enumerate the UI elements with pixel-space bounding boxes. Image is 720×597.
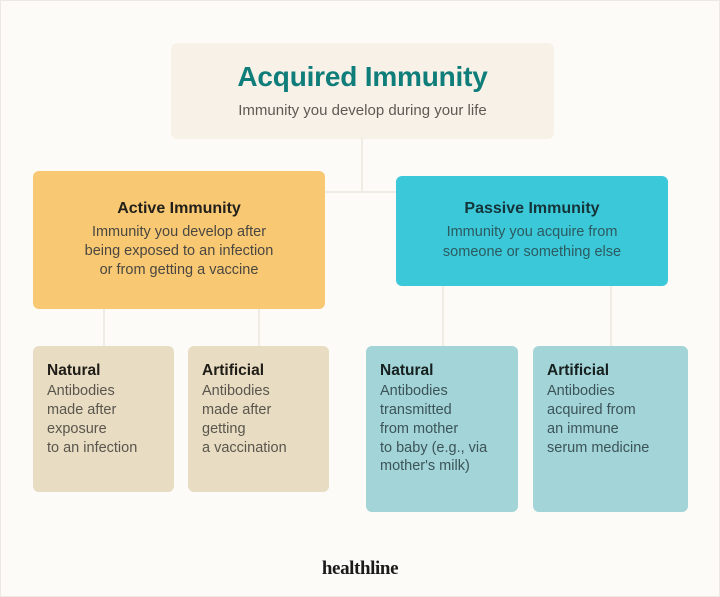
- passive-artificial-subtitle: Antibodies acquired from an immune serum…: [547, 382, 674, 457]
- active-immunity-title: Active Immunity: [117, 200, 241, 218]
- passive-immunity-subtitle: Immunity you acquire from someone or som…: [443, 223, 621, 262]
- active-artificial-subtitle: Antibodies made after getting a vaccinat…: [202, 382, 315, 457]
- active-natural-title: Natural: [47, 362, 160, 380]
- connector-active-to-natural: [103, 309, 105, 347]
- passive-natural-subtitle: Antibodies transmitted from mother to ba…: [380, 382, 504, 476]
- node-passive-natural: Natural Antibodies transmitted from moth…: [366, 346, 518, 512]
- connector-active-to-artificial: [258, 309, 260, 347]
- passive-artificial-title: Artificial: [547, 362, 674, 380]
- node-active-natural: Natural Antibodies made after exposure t…: [33, 346, 174, 492]
- node-active-immunity: Active Immunity Immunity you develop aft…: [33, 171, 325, 309]
- node-active-artificial: Artificial Antibodies made after getting…: [188, 346, 329, 492]
- node-passive-artificial: Artificial Antibodies acquired from an i…: [533, 346, 688, 512]
- node-acquired-immunity: Acquired Immunity Immunity you develop d…: [171, 43, 554, 139]
- connector-root-to-passive: [361, 191, 396, 193]
- root-subtitle: Immunity you develop during your life: [238, 101, 486, 121]
- passive-natural-title: Natural: [380, 362, 504, 380]
- active-immunity-subtitle: Immunity you develop after being exposed…: [85, 223, 274, 281]
- active-natural-subtitle: Antibodies made after exposure to an inf…: [47, 382, 160, 457]
- connector-passive-to-natural: [442, 286, 444, 347]
- active-artificial-title: Artificial: [202, 362, 315, 380]
- healthline-logo: healthline: [1, 558, 719, 580]
- passive-immunity-title: Passive Immunity: [464, 200, 599, 218]
- immunity-infographic: Acquired Immunity Immunity you develop d…: [0, 0, 720, 597]
- node-passive-immunity: Passive Immunity Immunity you acquire fr…: [396, 176, 668, 286]
- connector-passive-to-artificial: [610, 286, 612, 347]
- connector-root-to-active: [325, 191, 361, 193]
- connector-root-stem: [361, 139, 363, 191]
- root-title: Acquired Immunity: [237, 62, 487, 93]
